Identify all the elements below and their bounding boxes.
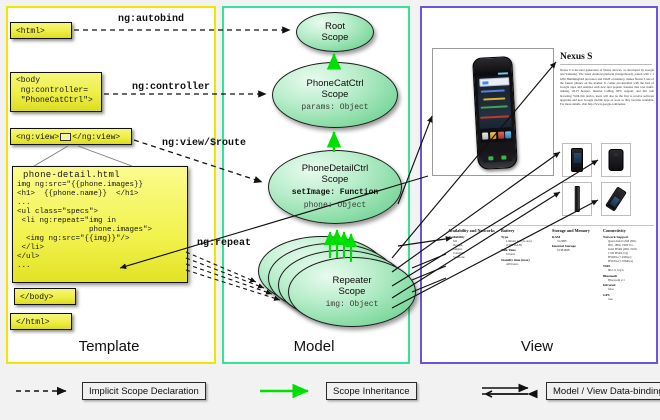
thumbnail-4[interactable] (601, 182, 631, 216)
scope-phonedetailctrl-title: PhoneDetailCtrlScope (302, 163, 369, 185)
spec-header: Battery (501, 228, 549, 233)
diagram-canvas: <html> <body ng:controller= "PhoneCatCtr… (0, 0, 660, 420)
spec-column-battery: Battery Type Lithium Ion (Li-Ion)(1500 m… (501, 228, 549, 266)
column-label-model: Model (222, 338, 406, 355)
thumbnail-1[interactable] (562, 143, 592, 177)
spec-column-storage: Storage and Memory RAM 512MB Internal St… (552, 228, 600, 252)
thumbnail-3[interactable] (562, 182, 592, 216)
spec-value: 6 hours (501, 252, 549, 256)
phone-hero-image (432, 48, 554, 176)
scope-root-title: RootScope (322, 21, 349, 43)
scope-repeater: RepeaterScope img: Object (288, 257, 416, 327)
scope-repeater-prop-img: img: Object (326, 300, 379, 310)
spec-value: 16384MB (552, 248, 600, 252)
spec-table: Availability and Networks Availability M… (448, 228, 654, 334)
label-ng-view-route: ng:view/$route (162, 138, 246, 149)
phone-device-icon (472, 56, 518, 170)
code-html-open: <html> (10, 22, 72, 39)
scope-root: RootScope (296, 12, 374, 52)
spec-value: M1Orange,Singtel,T-mobile,Vodafone (448, 239, 496, 259)
spec-header: Availability and Networks (448, 228, 496, 233)
legend-label: Implicit Scope Declaration (82, 382, 206, 400)
phone-wallpaper-stripe-1 (481, 89, 505, 92)
thumbnail-3-phone-icon (575, 186, 580, 212)
spec-value: Bluetooth 2.1 (603, 278, 651, 282)
phone-screen (477, 71, 513, 143)
spec-column-availability: Availability and Networks Availability M… (448, 228, 496, 259)
code-body-open: <body ng:controller= "PhoneCatCtrl"> (10, 72, 102, 112)
ngview-open-tag: <ng:view> (16, 133, 59, 142)
phone-app-dock (480, 127, 513, 143)
ngview-close-tag: </ng:view> (72, 133, 120, 142)
product-title: Nexus S (560, 52, 652, 62)
phone-dock-icon-1 (482, 132, 488, 139)
spec-value: Lithium Ion (Li-Ion)(1500 mAH) (501, 239, 549, 247)
phone-wallpaper-stripe-2 (483, 97, 505, 100)
spec-column-connectivity: Connectivity Network Support Quad-band G… (603, 228, 651, 301)
scope-repeater-title: RepeaterScope (332, 275, 371, 297)
column-label-view: View (420, 338, 654, 355)
legend-item-implicit-scope-declaration: Implicit Scope Declaration (14, 380, 206, 402)
phone-dock-icon-3 (498, 132, 504, 139)
legend: Implicit Scope Declaration Scope Inherit… (0, 372, 660, 420)
dashed-arrow-icon (14, 383, 76, 399)
legend-label: Model / View Data-binding (546, 382, 660, 400)
scope-phonedetailctrl-prop-phone: phone: Object (304, 201, 366, 211)
phone-hardware-buttons (482, 153, 512, 163)
phone-wallpaper-stripe-4 (480, 115, 509, 119)
product-title-divider (560, 64, 652, 65)
spec-table-divider (448, 225, 654, 226)
thumbnail-4-phone-icon (605, 186, 627, 211)
solid-arrow-icon (258, 383, 320, 399)
phone-statusbar (477, 71, 509, 77)
legend-item-scope-inheritance: Scope Inheritance (258, 380, 417, 402)
label-ng-repeat: ng:repeat (197, 238, 251, 249)
phone-search-widget (479, 77, 509, 87)
legend-item-model-view-data-binding: Model / View Data-binding (478, 380, 660, 402)
phone-dock-icon-2 (490, 132, 496, 139)
thumbnail-2[interactable] (601, 143, 631, 177)
spec-header: Connectivity (603, 228, 651, 233)
scope-phonedetailctrl: PhoneDetailCtrlScope setImage: Function … (268, 150, 402, 224)
code-body-close: </body> (14, 288, 76, 305)
spec-value: false (603, 287, 651, 291)
scope-phonecatctrl-title: PhoneCatCtrlScope (306, 78, 363, 100)
partial-template-callout: phone-detail.html img ng:src="{{phone.im… (12, 166, 188, 283)
spec-value: 512MB (552, 239, 600, 243)
legend-label: Scope Inheritance (326, 382, 417, 400)
spec-value: 428 hours (501, 262, 549, 266)
scope-phonedetailctrl-prop-setimage: setImage: Function (292, 188, 378, 198)
scope-phonecatctrl: PhoneCatCtrlScope params: Object (272, 62, 398, 128)
thumbnail-1-phone-icon (571, 148, 583, 172)
ngview-slot-icon (60, 133, 71, 141)
spec-value: 802.11 b/g/n (603, 268, 651, 272)
code-ngview: <ng:view></ng:view> (10, 128, 132, 145)
double-arrow-icon (478, 383, 540, 399)
column-label-template: Template (6, 338, 212, 355)
label-ng-autobind: ng:autobind (118, 14, 184, 25)
spec-value: Quad-band GSM (850,900, 1800, 1900 Tri-b… (603, 239, 651, 263)
spec-value: true (603, 297, 651, 301)
spec-header: Storage and Memory (552, 228, 600, 233)
thumbnail-2-phone-icon (609, 149, 624, 171)
phone-dock-icon-4 (505, 131, 511, 138)
scope-phonecatctrl-prop-params: params: Object (301, 103, 368, 113)
phone-wallpaper-stripe-3 (481, 105, 508, 108)
partial-filename: phone-detail.html (13, 167, 187, 181)
partial-code: img ng:src="{{phone.images}} <h1> {{phon… (13, 181, 187, 271)
label-ng-controller: ng:controller (132, 82, 210, 93)
code-html-close: </html> (10, 313, 72, 330)
product-description: Nexus S is the next generation of Nexus … (560, 68, 654, 126)
